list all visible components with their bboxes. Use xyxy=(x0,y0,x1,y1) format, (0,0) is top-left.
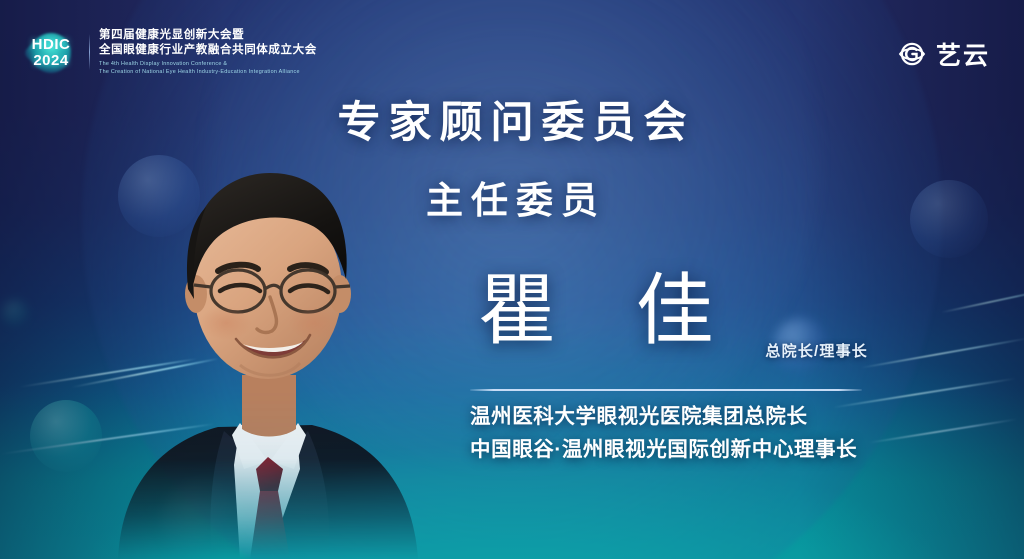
portrait-photo xyxy=(100,139,430,559)
conference-title-en-line1: The 4th Health Display Innovation Confer… xyxy=(99,60,317,68)
hdic-badge-line1: HDIC xyxy=(32,37,71,52)
orb-teal-tiny-left xyxy=(2,300,28,326)
brand-label: 艺云 xyxy=(936,36,990,72)
person-name: 瞿 佳 xyxy=(478,272,744,350)
streak-right-edge xyxy=(941,289,1024,314)
description-line-1: 温州医科大学眼视光医院集团总院长 xyxy=(470,400,900,433)
person-name-row: 瞿 佳 总院长/理事长 xyxy=(470,278,890,368)
person-role: 总院长/理事长 xyxy=(765,340,868,361)
hdic-badge-line2: 2024 xyxy=(33,53,68,68)
section-divider xyxy=(470,389,862,391)
eye-circle-logo-icon xyxy=(897,39,927,69)
conference-title-en-line2: The Creation of National Eye Health Indu… xyxy=(99,68,317,76)
hdic-badge: HDIC 2024 xyxy=(22,29,80,75)
description-line-2: 中国眼谷·温州眼视光国际创新中心理事长 xyxy=(470,433,900,466)
brand-logo: 艺云 xyxy=(897,36,990,72)
conference-title-group: 第四届健康光显创新大会暨 全国眼健康行业产教融合共同体成立大会 The 4th … xyxy=(99,28,317,77)
conference-title-cn-line2: 全国眼健康行业产教融合共同体成立大会 xyxy=(99,43,317,58)
person-description: 温州医科大学眼视光医院集团总院长 中国眼谷·温州眼视光国际创新中心理事长 xyxy=(470,400,900,466)
conference-title-cn-line1: 第四届健康光显创新大会暨 xyxy=(99,28,317,43)
conference-logo: HDIC 2024 第四届健康光显创新大会暨 全国眼健康行业产教融合共同体成立大… xyxy=(22,28,317,77)
logo-divider xyxy=(89,34,90,70)
presentation-slide: HDIC 2024 第四届健康光显创新大会暨 全国眼健康行业产教融合共同体成立大… xyxy=(0,0,1024,559)
orb-teal-left-low xyxy=(30,400,102,472)
